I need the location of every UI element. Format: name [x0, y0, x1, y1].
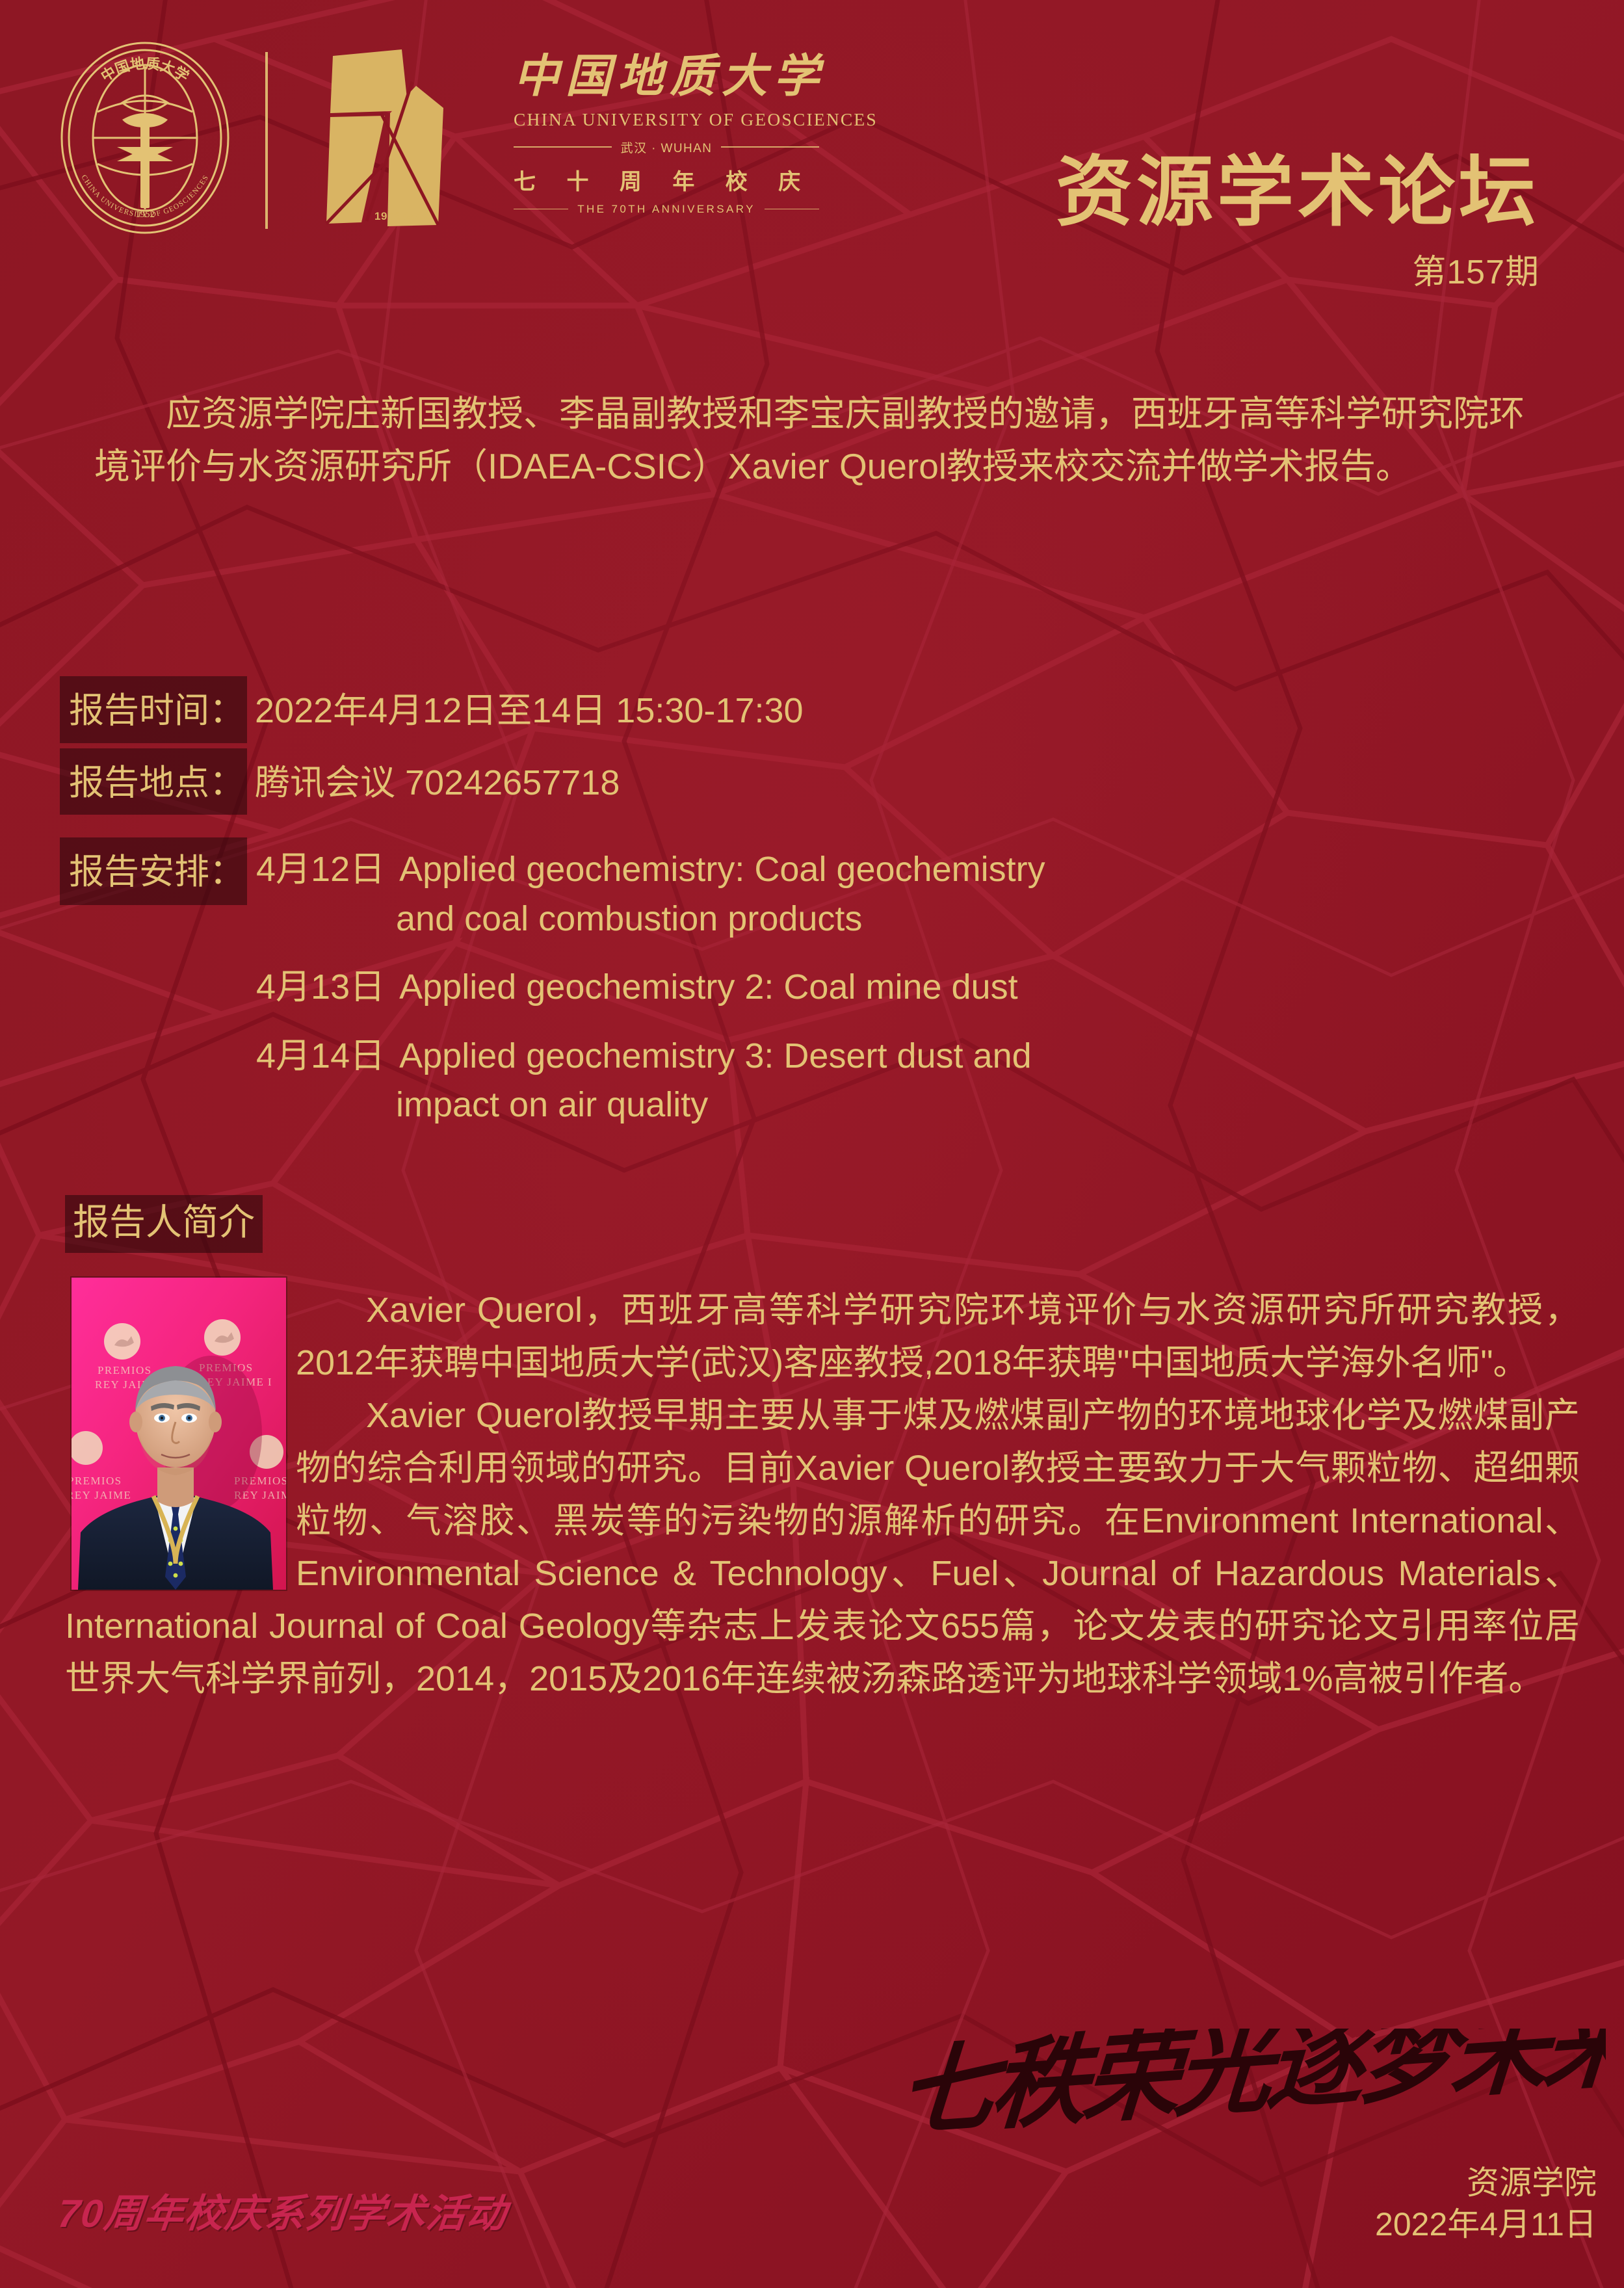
rule-left	[514, 146, 612, 148]
schedule-line: 4月14日 Applied geochemistry 3: Desert dus…	[256, 1032, 1585, 1081]
svg-text:PREMIOS: PREMIOS	[98, 1364, 152, 1376]
schedule-date: 4月14日	[256, 1032, 399, 1081]
anniversary-70-logo-icon: 1952-2022	[304, 46, 506, 234]
schedule-head: 报告安排： 4月12日 Applied geochemistry: Coal g…	[64, 845, 1585, 1130]
place-value: 腾讯会议 70242657718	[248, 756, 620, 811]
schedule-date: 4月13日	[256, 963, 399, 1012]
speaker-bio: Xavier Querol，西班牙高等科学研究院环境评价与水资源研究所研究教授，…	[65, 1284, 1580, 1705]
schedule-item: 4月14日 Applied geochemistry 3: Desert dus…	[256, 1032, 1585, 1130]
logo-anniversary-en: THE 70TH ANNIVERSARY	[577, 203, 755, 216]
schedule-topic: Applied geochemistry 2: Coal mine dust	[399, 963, 1585, 1012]
place-label: 报告地点：	[64, 756, 248, 811]
time-label: 报告时间：	[64, 684, 248, 739]
schedule-topic: Applied geochemistry 3: Desert dust and	[399, 1032, 1585, 1081]
footer-campaign-banner: 70周年校庆系列学术活动	[55, 2182, 510, 2239]
footer-organizer: 资源学院	[1375, 2162, 1597, 2203]
page-title: 资源学术论坛	[1056, 150, 1539, 235]
info-block: 报告时间： 2022年4月12日至14日 15:30-17:30 报告地点： 腾…	[64, 684, 1578, 828]
logo-campus: 武汉 · WUHAN	[621, 138, 713, 156]
poster-header: 1952 CHINA UNIVERSITY OF GEOSCIENCES 中国地…	[0, 0, 1624, 312]
svg-text:PREMIOS: PREMIOS	[72, 1475, 122, 1487]
header-divider	[265, 52, 268, 229]
university-seal-icon: 1952 CHINA UNIVERSITY OF GEOSCIENCES 中国地…	[57, 40, 233, 235]
calligraphy-text: 七秩荣光逐梦未来	[897, 2029, 1606, 2149]
intro-text: 应资源学院庄新国教授、李晶副教授和李宝庆副教授的邀请，西班牙高等科学研究院环境评…	[94, 388, 1557, 493]
logo-anniversary-row: THE 70TH ANNIVERSARY	[514, 203, 819, 216]
time-value: 2022年4月12日至14日 15:30-17:30	[248, 684, 804, 739]
background-polygon-pattern	[0, 0, 1624, 2288]
logo-text-lockup: 中国地质大学 CHINA UNIVERSITY OF GEOSCIENCES 武…	[514, 53, 819, 216]
schedule-item: 4月12日 Applied geochemistry: Coal geochem…	[256, 845, 1585, 943]
logo-university-en: CHINA UNIVERSITY OF GEOSCIENCES	[514, 109, 819, 130]
schedule-topic-cont: impact on air quality	[256, 1081, 1585, 1130]
rule-left-2	[514, 209, 568, 210]
info-row-place: 报告地点： 腾讯会议 70242657718	[64, 756, 1578, 811]
intro-paragraph: 应资源学院庄新国教授、李晶副教授和李宝庆副教授的邀请，西班牙高等科学研究院环境评…	[94, 388, 1557, 493]
schedule-block: 报告安排： 4月12日 Applied geochemistry: Coal g…	[64, 845, 1585, 1130]
schedule-topic: Applied geochemistry: Coal geochemistry	[399, 845, 1585, 895]
logo-university-cn: 中国地质大学	[514, 53, 819, 101]
rule-right-2	[765, 209, 819, 210]
info-row-time: 报告时间： 2022年4月12日至14日 15:30-17:30	[64, 684, 1578, 739]
rule-right	[721, 146, 819, 148]
logo-campus-row: 武汉 · WUHAN	[514, 138, 819, 156]
svg-text:REY JAIME: REY JAIME	[72, 1489, 131, 1501]
schedule-line: 4月12日 Applied geochemistry: Coal geochem…	[256, 845, 1585, 895]
schedule-date: 4月12日	[256, 845, 399, 895]
schedule-line: 4月13日 Applied geochemistry 2: Coal mine …	[256, 963, 1585, 1012]
footer-date: 2022年4月11日	[1375, 2203, 1597, 2245]
svg-text:1952-2022: 1952-2022	[374, 210, 430, 222]
schedule-item: 4月13日 Applied geochemistry 2: Coal mine …	[256, 963, 1585, 1012]
footer-right: 资源学院 2022年4月11日	[1375, 2162, 1597, 2245]
logo-anniversary-cn: 七 十 周 年 校 庆	[514, 164, 819, 196]
speaker-section-title: 报告人简介	[65, 1195, 263, 1253]
poster-root: 1952 CHINA UNIVERSITY OF GEOSCIENCES 中国地…	[0, 0, 1624, 2288]
calligraphy-slogan: 七秩荣光逐梦未来	[897, 2029, 1606, 2159]
speaker-photo: PREMIOS REY JAIME I PREMIOS REY JAIME I …	[72, 1278, 286, 1590]
forum-title-block: 资源学术论坛 第157期	[1056, 150, 1539, 293]
schedule-list: 4月12日 Applied geochemistry: Coal geochem…	[248, 845, 1585, 1130]
schedule-label: 报告安排：	[64, 845, 248, 901]
issue-number: 第157期	[1056, 244, 1539, 293]
schedule-topic-cont: and coal combustion products	[256, 895, 1585, 944]
